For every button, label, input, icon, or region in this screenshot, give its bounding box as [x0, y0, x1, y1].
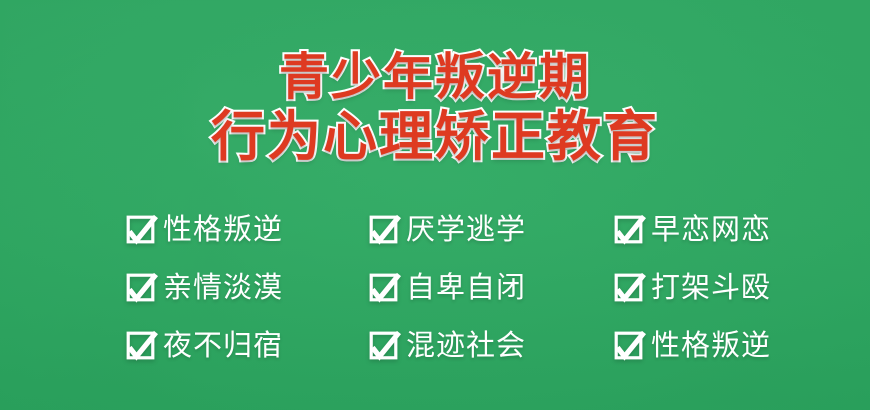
checklist-item[interactable]: 性格叛逆 [126, 200, 369, 258]
checklist-item[interactable]: 混迹社会 [369, 316, 614, 374]
checkbox-checked-icon [614, 273, 643, 302]
checkbox-checked-icon [126, 331, 155, 360]
checklist-item-label: 打架斗殴 [651, 273, 771, 302]
headline-line-2: 行为心理矫正教育 [0, 110, 870, 164]
checkbox-checked-icon [369, 331, 398, 360]
checklist-item-label: 性格叛逆 [163, 215, 283, 244]
checklist: 性格叛逆 厌学逃学 早恋网恋 [126, 200, 746, 374]
checklist-item-label: 自卑自闭 [406, 273, 526, 302]
checkbox-checked-icon [614, 215, 643, 244]
checklist-item[interactable]: 亲情淡漠 [126, 258, 369, 316]
checklist-item[interactable]: 早恋网恋 [614, 200, 771, 258]
checklist-item[interactable]: 自卑自闭 [369, 258, 614, 316]
checklist-item-label: 性格叛逆 [651, 331, 771, 360]
checklist-item[interactable]: 打架斗殴 [614, 258, 771, 316]
checklist-item[interactable]: 夜不归宿 [126, 316, 369, 374]
checklist-item-label: 混迹社会 [406, 331, 526, 360]
headline: 青少年叛逆期 行为心理矫正教育 [0, 52, 870, 164]
checkbox-checked-icon [369, 215, 398, 244]
checklist-item[interactable]: 性格叛逆 [614, 316, 771, 374]
checklist-item-label: 厌学逃学 [406, 215, 526, 244]
checklist-item-label: 亲情淡漠 [163, 273, 283, 302]
promo-banner: 青少年叛逆期 行为心理矫正教育 性格叛逆 厌学逃学 [0, 0, 870, 410]
checklist-item-label: 早恋网恋 [651, 215, 771, 244]
checkbox-checked-icon [369, 273, 398, 302]
checklist-item-label: 夜不归宿 [163, 331, 283, 360]
checkbox-checked-icon [126, 215, 155, 244]
checklist-item[interactable]: 厌学逃学 [369, 200, 614, 258]
checkbox-checked-icon [614, 331, 643, 360]
headline-line-1: 青少年叛逆期 [0, 52, 870, 102]
checkbox-checked-icon [126, 273, 155, 302]
